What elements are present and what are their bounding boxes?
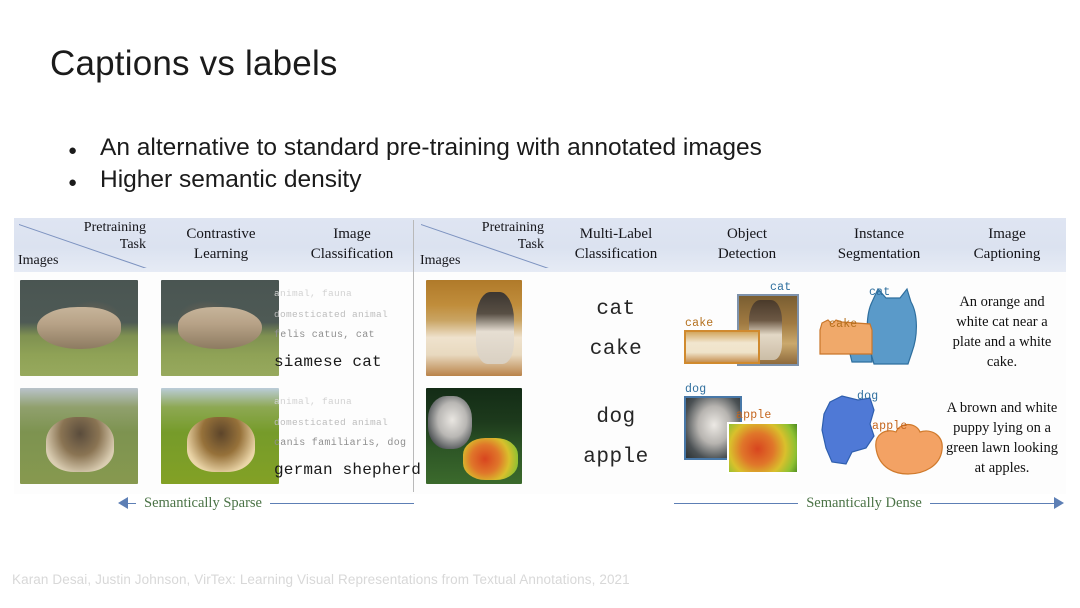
segmentation-mask-cat xyxy=(867,289,916,364)
image-dog-sitting-augmented xyxy=(161,388,279,484)
axis-label-sparse: Semantically Sparse xyxy=(136,495,270,512)
detection-box-apple xyxy=(727,422,799,474)
image-dog-side-original xyxy=(20,280,138,376)
corner-header-left: Pretraining Task Images xyxy=(16,218,150,272)
axis-line xyxy=(674,503,798,504)
arrow-right-icon xyxy=(1054,497,1064,509)
wordnet-label-faint-1: animal, fauna xyxy=(274,396,421,407)
image-dog-sitting-original xyxy=(20,388,138,484)
header-line2: Detection xyxy=(686,245,808,265)
corner-header-right: Pretraining Task Images xyxy=(418,218,548,272)
header-line1: Contrastive xyxy=(154,225,288,245)
classification-label-main: german shepherd xyxy=(274,461,421,479)
header-instance-segmentation: Instance Segmentation xyxy=(806,218,952,272)
header-line1: Multi-Label xyxy=(544,225,688,245)
bullet-text: Higher semantic density xyxy=(100,164,361,195)
image-dog-with-apples xyxy=(426,388,522,484)
wordnet-label-faint-2: domesticated animal xyxy=(274,417,421,428)
bullet-text: An alternative to standard pre-training … xyxy=(100,132,762,163)
header-line1: Instance xyxy=(806,225,952,245)
wordnet-label-faint-3: felis catus, cat xyxy=(274,330,388,341)
header-object-detection: Object Detection xyxy=(686,218,808,272)
corner-images-label: Images xyxy=(420,253,460,269)
virtex-comparison-figure: Pretraining Task Images Contrastive Lear… xyxy=(14,218,1066,518)
header-line2: Classification xyxy=(544,245,688,265)
corner-task-label: Pretraining Task xyxy=(482,220,544,254)
segmentation-tag-cake: cake xyxy=(829,318,857,331)
axis-semantically-dense: Semantically Dense xyxy=(674,496,1064,510)
bullet-marker-icon: ● xyxy=(62,143,100,158)
wordnet-label-faint-1: animal, fauna xyxy=(274,288,388,299)
multilabel-row-1: cat cake xyxy=(544,290,688,370)
citation-text: Karan Desai, Justin Johnson, VirTex: Lea… xyxy=(12,572,630,587)
image-cat-with-cake xyxy=(426,280,522,376)
wordnet-label-faint-3: canis familiaris, dog xyxy=(274,438,421,449)
arrow-left-icon xyxy=(118,497,128,509)
detection-tag-dog: dog xyxy=(685,383,706,396)
detection-tag-cake: cake xyxy=(685,317,713,330)
caption-text-cat: An orange and white cat near a plate and… xyxy=(944,292,1060,372)
list-item: ● An alternative to standard pre-trainin… xyxy=(62,132,1022,163)
image-dog-side-augmented xyxy=(161,280,279,376)
segmentation-tag-apple: apple xyxy=(872,420,908,433)
multilabel-tag: apple xyxy=(544,438,688,478)
header-image-classification: Image Classification xyxy=(290,218,414,272)
corner-task-line2: Task xyxy=(120,237,146,252)
detection-tag-apple: apple xyxy=(736,409,772,422)
bullet-list: ● An alternative to standard pre-trainin… xyxy=(62,132,1022,197)
multilabel-tag: dog xyxy=(544,398,688,438)
corner-task-label: Pretraining Task xyxy=(84,220,146,254)
classification-label-main: siamese cat xyxy=(274,353,388,371)
list-item: ● Higher semantic density xyxy=(62,164,1022,195)
classification-labels-dog: animal, fauna domesticated animal canis … xyxy=(274,396,421,479)
corner-images-label: Images xyxy=(18,253,58,269)
wordnet-label-faint-2: domesticated animal xyxy=(274,309,388,320)
segmentation-tag-cat: cat xyxy=(869,286,890,299)
bullet-marker-icon: ● xyxy=(62,175,100,190)
header-line2: Learning xyxy=(154,245,288,265)
axis-semantically-sparse: Semantically Sparse xyxy=(118,496,414,510)
multilabel-tag: cake xyxy=(544,330,688,370)
multilabel-row-2: dog apple xyxy=(544,398,688,478)
header-line2: Captioning xyxy=(950,245,1064,265)
multilabel-tag: cat xyxy=(544,290,688,330)
segmentation-mask-dog xyxy=(822,396,874,464)
detection-tag-cat: cat xyxy=(770,281,791,294)
header-line1: Image xyxy=(290,225,414,245)
axis-label-dense: Semantically Dense xyxy=(798,495,930,512)
segmentation-tag-dog: dog xyxy=(857,390,878,403)
page-title: Captions vs labels xyxy=(50,44,338,84)
header-line1: Object xyxy=(686,225,808,245)
header-image-captioning: Image Captioning xyxy=(950,218,1064,272)
corner-task-line2: Task xyxy=(518,237,544,252)
corner-task-line1: Pretraining xyxy=(84,220,146,235)
header-line2: Classification xyxy=(290,245,414,265)
classification-labels-cat: animal, fauna domesticated animal felis … xyxy=(274,288,388,371)
header-contrastive-learning: Contrastive Learning xyxy=(154,218,288,272)
axis-line xyxy=(930,503,1054,504)
header-line1: Image xyxy=(950,225,1064,245)
header-line2: Segmentation xyxy=(806,245,952,265)
segmentation-masks-row-2 xyxy=(812,390,952,480)
axis-line xyxy=(128,503,136,504)
axis-line xyxy=(270,503,414,504)
detection-box-cake xyxy=(684,330,760,364)
header-multi-label-classification: Multi-Label Classification xyxy=(544,218,688,272)
caption-text-dog: A brown and white puppy lying on a green… xyxy=(944,398,1060,478)
corner-task-line1: Pretraining xyxy=(482,220,544,235)
